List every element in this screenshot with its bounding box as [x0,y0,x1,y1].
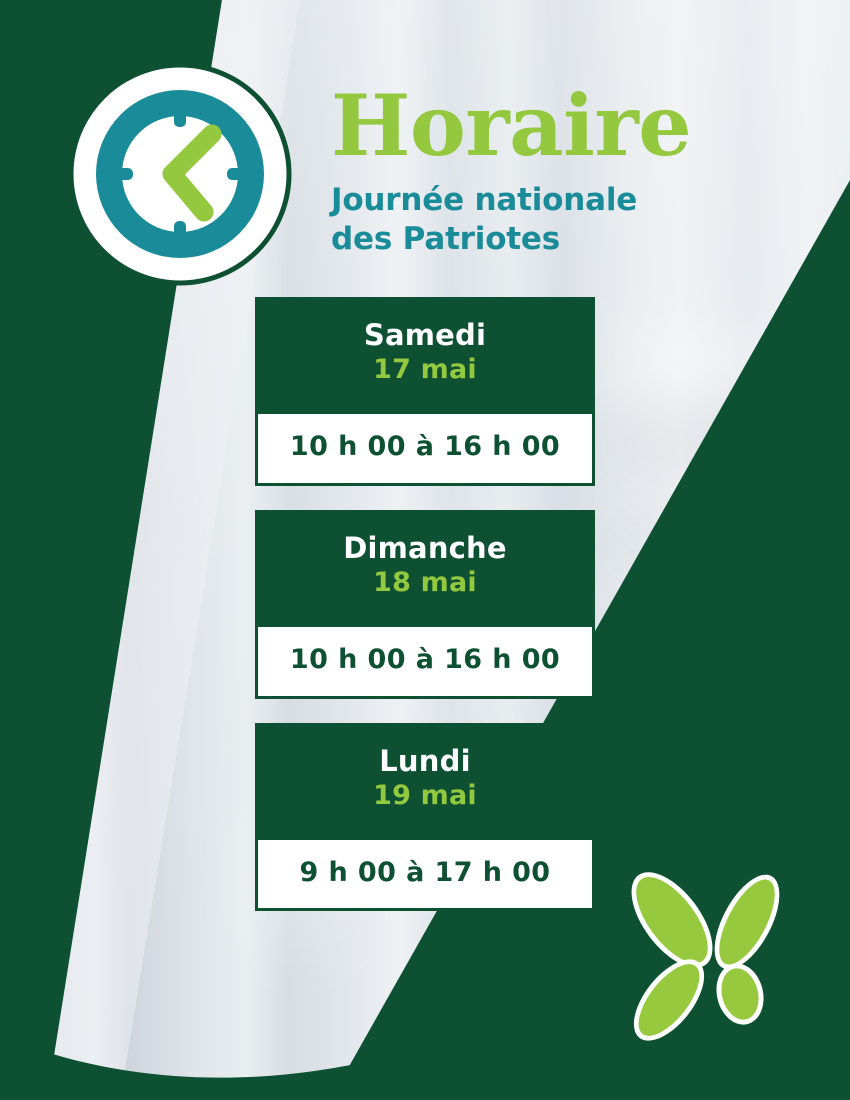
page-subtitle: Journée nationale des Patriotes [331,181,781,259]
schedule-card-header: Samedi 17 mai [255,297,595,411]
schedule-time-frame: 10 h 00 à 16 h 00 [255,624,595,698]
clock-icon [68,62,292,286]
schedule-date-label: 18 mai [265,565,585,600]
clock-badge [68,62,292,286]
schedule-date-label: 17 mai [265,352,585,387]
schedule-time-frame: 10 h 00 à 16 h 00 [255,411,595,485]
brand-logo [614,860,802,1048]
schedule-card: Lundi 19 mai 9 h 00 à 17 h 00 [255,723,595,912]
schedule-day-label: Samedi [265,319,585,352]
page-title: Horaire [331,85,781,167]
schedule-time-frame: 9 h 00 à 17 h 00 [255,837,595,911]
schedule-time-label: 9 h 00 à 17 h 00 [258,840,592,908]
schedule-card-list: Samedi 17 mai 10 h 00 à 16 h 00 Dimanche… [255,297,595,911]
schedule-day-label: Dimanche [265,532,585,565]
schedule-card: Samedi 17 mai 10 h 00 à 16 h 00 [255,297,595,486]
schedule-time-label: 10 h 00 à 16 h 00 [258,414,592,482]
poster-header: Horaire Journée nationale des Patriotes [331,85,781,259]
schedule-card-header: Lundi 19 mai [255,723,595,837]
schedule-date-label: 19 mai [265,778,585,813]
schedule-card-header: Dimanche 18 mai [255,510,595,624]
schedule-day-label: Lundi [265,745,585,778]
schedule-card: Dimanche 18 mai 10 h 00 à 16 h 00 [255,510,595,699]
schedule-poster: Horaire Journée nationale des Patriotes … [0,0,850,1100]
schedule-time-label: 10 h 00 à 16 h 00 [258,627,592,695]
butterfly-logo-icon [614,860,802,1048]
